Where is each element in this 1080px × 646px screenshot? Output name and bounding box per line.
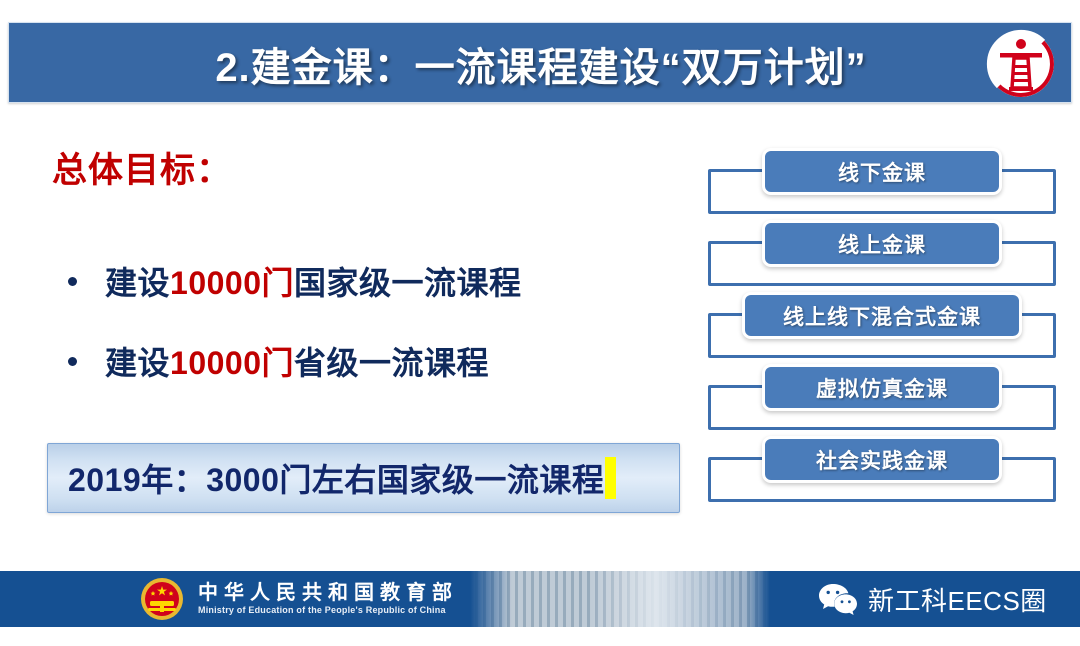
ministry-of-education-branding: 中华人民共和国教育部 Ministry of Education of the … — [140, 575, 458, 623]
bullet-number: 10000门 — [170, 345, 294, 381]
china-national-emblem-icon — [140, 577, 184, 621]
ministry-building-photo — [470, 571, 770, 627]
ministry-name-block: 中华人民共和国教育部 Ministry of Education of the … — [198, 582, 458, 617]
course-type-group: 线下金课 — [708, 169, 1056, 214]
bullet-suffix: 省级一流课程 — [294, 345, 489, 381]
bullet-prefix: 建设 — [105, 265, 170, 301]
wechat-account-name: 新工科EECS圈 — [868, 581, 1047, 618]
course-type-label: 线上线下混合式金课 — [783, 301, 981, 331]
bullet-number: 10000门 — [170, 265, 294, 301]
ministry-name-en: Ministry of Education of the People's Re… — [198, 605, 458, 617]
goal-bullet-item: 建设10000门国家级一流课程 — [68, 258, 522, 304]
course-type-label: 社会实践金课 — [816, 445, 948, 475]
bullet-suffix: 国家级一流课程 — [294, 265, 522, 301]
course-type-label: 线上金课 — [838, 229, 926, 259]
ministry-name-cn: 中华人民共和国教育部 — [198, 582, 458, 605]
course-type-label: 虚拟仿真金课 — [816, 373, 948, 403]
course-type-pill[interactable]: 线上金课 — [762, 220, 1002, 267]
callout-box: 2019年：3000门左右国家级一流课程 — [47, 443, 680, 513]
slide-footer-bar: 中华人民共和国教育部 Ministry of Education of the … — [0, 571, 1080, 627]
bullet-dot-icon — [68, 277, 77, 286]
goal-bullet-text: 建设10000门国家级一流课程 — [105, 258, 522, 304]
slide-title-bar: 2.建金课：一流课程建设“双万计划” — [8, 22, 1072, 103]
course-type-pill[interactable]: 虚拟仿真金课 — [762, 364, 1002, 411]
callout-text: 2019年：3000门左右国家级一流课程 — [68, 455, 604, 501]
overall-goal-heading: 总体目标： — [52, 142, 232, 193]
wechat-account-branding: 新工科EECS圈 — [818, 579, 1047, 619]
xidian-tower-logo-icon — [985, 28, 1057, 100]
course-type-pill[interactable]: 社会实践金课 — [762, 436, 1002, 483]
goal-bullet-text: 建设10000门省级一流课程 — [105, 338, 489, 384]
wechat-icon — [818, 582, 858, 616]
goal-bullet-item: 建设10000门省级一流课程 — [68, 338, 489, 384]
page-title: 2.建金课：一流课程建设“双万计划” — [9, 23, 1073, 104]
bullet-prefix: 建设 — [105, 345, 170, 381]
bullet-dot-icon — [68, 357, 77, 366]
presentation-slide: 2.建金课：一流课程建设“双万计划” 总体目标： 建设10000门国家级一流课程… — [0, 0, 1080, 646]
course-type-pill[interactable]: 线下金课 — [762, 148, 1002, 195]
course-type-group: 社会实践金课 — [708, 457, 1056, 502]
course-type-group: 线上线下混合式金课 — [708, 313, 1056, 358]
text-cursor-highlight — [605, 457, 616, 499]
course-type-label: 线下金课 — [838, 157, 926, 187]
course-type-group: 线上金课 — [708, 241, 1056, 286]
course-type-group: 虚拟仿真金课 — [708, 385, 1056, 430]
course-type-pill[interactable]: 线上线下混合式金课 — [742, 292, 1022, 339]
